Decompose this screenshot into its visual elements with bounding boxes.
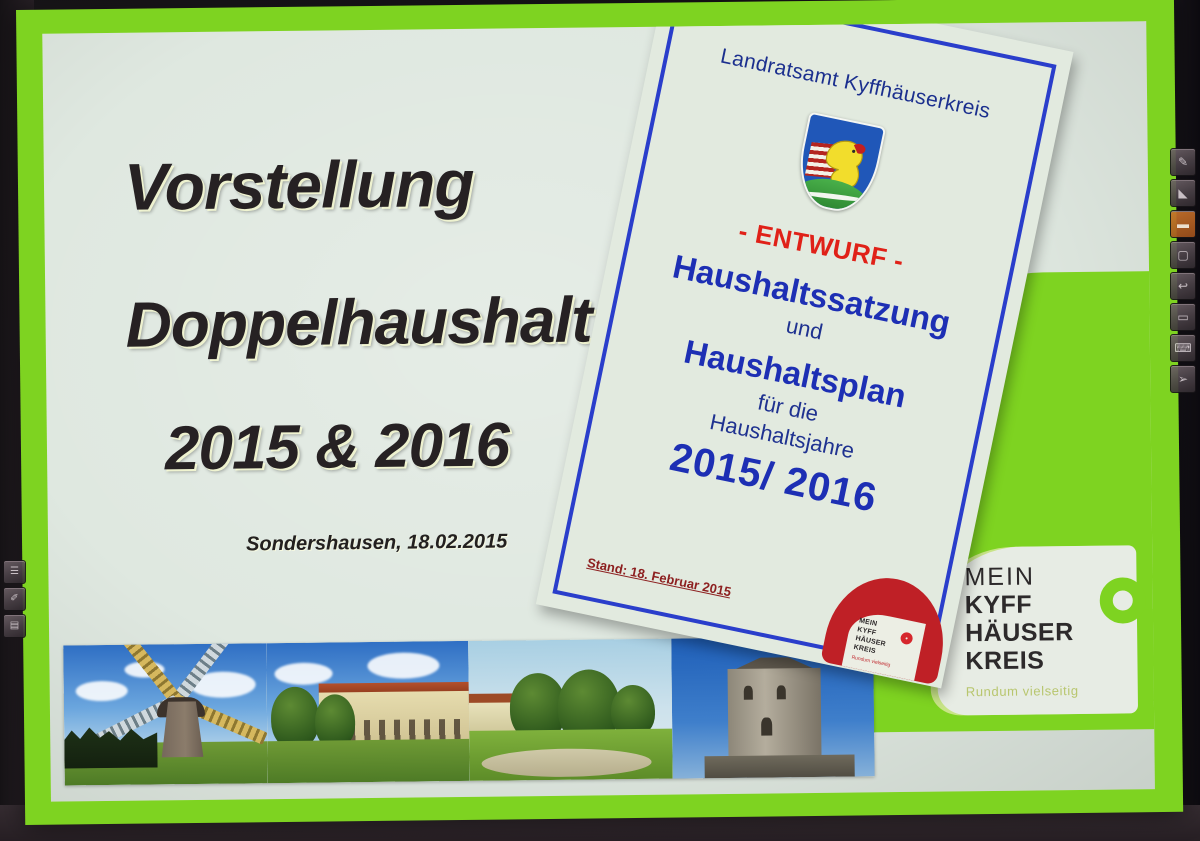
photo-strip: [63, 636, 875, 785]
photo-park: [468, 639, 672, 781]
logo-line-mein: MEIN: [964, 562, 1077, 591]
tower-window: [761, 717, 772, 735]
document-connector: und: [784, 312, 825, 344]
logo-line-kyff: KYFF: [965, 590, 1078, 619]
whiteboard-toolbar-left[interactable]: ☰ ✐ ▤: [3, 560, 26, 638]
projected-screen-scene: ✎ ◣ ▬ ▢ ↩ ▭ ⌨ ➢ ☰ ✐ ▤ Vorstellung Doppel…: [0, 0, 1200, 841]
whiteboard-toolbar-right[interactable]: ✎ ◣ ▬ ▢ ↩ ▭ ⌨ ➢: [1170, 148, 1196, 393]
shape-icon[interactable]: ▢: [1170, 241, 1196, 269]
menu-icon[interactable]: ☰: [3, 560, 26, 584]
select-icon[interactable]: ▭: [1170, 303, 1196, 331]
tool-icon[interactable]: ✐: [3, 587, 26, 611]
pen-icon[interactable]: ✎: [1170, 148, 1196, 176]
ground: [267, 739, 470, 783]
logo-line-haeuser: HÄUSER: [965, 618, 1078, 647]
highlighter-icon[interactable]: ▬: [1170, 210, 1196, 238]
tower-window: [777, 685, 786, 699]
eraser-icon[interactable]: ◣: [1170, 179, 1196, 207]
badge-ring-icon: [900, 631, 914, 645]
document-organisation: Landratsamt Kyffhäuserkreis: [718, 45, 992, 125]
photo-windmill: [63, 643, 267, 785]
undo-icon[interactable]: ↩: [1170, 272, 1196, 300]
kyffhaeuserkreis-coat-of-arms-icon: [791, 112, 886, 218]
cloud-shape: [274, 662, 332, 685]
logo-line-kreis: KREIS: [965, 646, 1078, 675]
pointer-icon[interactable]: ➢: [1170, 365, 1196, 393]
keyboard-icon[interactable]: ⌨: [1170, 334, 1196, 362]
logo-tagline: Rundum vielseitig: [966, 683, 1079, 699]
ring-icon: [1099, 577, 1146, 624]
slide-green-frame: Vorstellung Doppelhaushalt 2015 & 2016 S…: [16, 0, 1183, 825]
tower-window: [744, 685, 753, 699]
kyffhaeuserkreis-logo: MEIN KYFF HÄUSER KREIS Rundum vielseitig: [936, 545, 1138, 715]
page-icon[interactable]: ▤: [3, 614, 26, 638]
tower-base: [704, 754, 854, 778]
photo-palace: [266, 641, 470, 783]
presentation-slide: Vorstellung Doppelhaushalt 2015 & 2016 S…: [42, 21, 1155, 801]
